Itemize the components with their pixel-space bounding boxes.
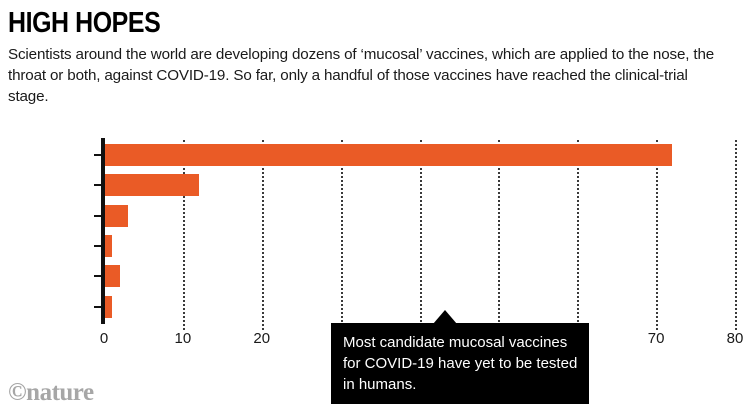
bar[interactable] xyxy=(104,296,112,318)
bar[interactable] xyxy=(104,174,199,196)
annotation-callout: Most candidate mucosal vaccines for COVI… xyxy=(331,323,589,404)
annotation-arrow-icon xyxy=(433,310,457,324)
chart-header: HIGH HOPES Scientists around the world a… xyxy=(8,8,743,107)
chart-plot-wrapper: PreclinicalPhase IPhase I/IIPhase IIPhas… xyxy=(0,132,751,372)
x-tick-label-10: 10 xyxy=(175,330,192,347)
page-title: HIGH HOPES xyxy=(8,8,640,38)
plot-area: PreclinicalPhase IPhase I/IIPhase IIPhas… xyxy=(104,140,735,322)
x-tick-label-80: 80 xyxy=(727,330,744,347)
x-tick-label-70: 70 xyxy=(648,330,665,347)
y-axis-line xyxy=(101,138,105,324)
chart-subtitle: Scientists around the world are developi… xyxy=(8,44,728,107)
bar-row: Phase III xyxy=(104,292,735,322)
bar[interactable] xyxy=(104,265,120,287)
bar-row: Phase I xyxy=(104,170,735,200)
x-tick-label-20: 20 xyxy=(253,330,270,347)
bar[interactable] xyxy=(104,144,672,166)
bar-row: Phase II xyxy=(104,231,735,261)
bar[interactable] xyxy=(104,205,128,227)
bar-row: Preclinical xyxy=(104,140,735,170)
x-tick-label-0: 0 xyxy=(100,330,108,347)
bar-row: Phase I/II xyxy=(104,201,735,231)
nature-logo: ©nature xyxy=(8,379,94,407)
gridline-80 xyxy=(735,140,737,330)
bar-row: Phase II/III xyxy=(104,261,735,291)
bar[interactable] xyxy=(104,235,112,257)
